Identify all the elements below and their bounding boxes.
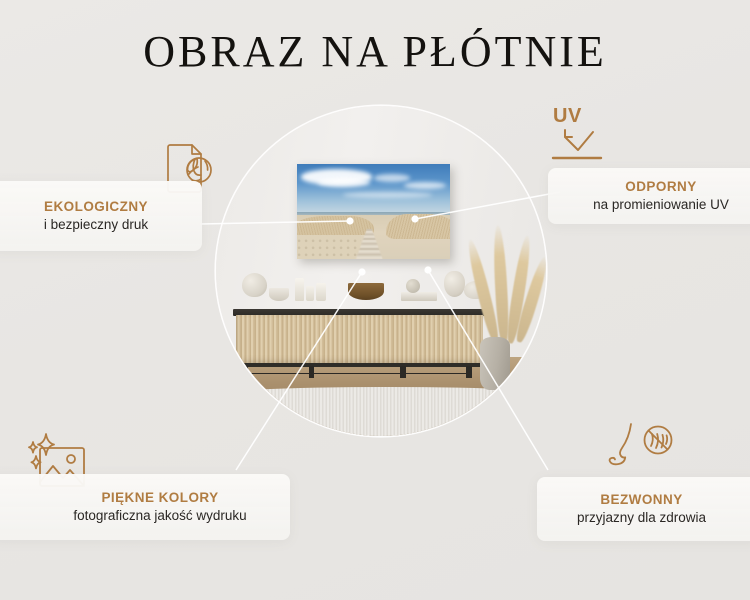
feature-subtitle-uv: na promieniowanie UV: [593, 196, 729, 214]
artwork-dune-right: [386, 214, 450, 239]
artwork-cloud: [318, 178, 370, 187]
scene-circle-mask: [216, 106, 546, 436]
nose-no-smell-icon: [605, 418, 679, 485]
feature-title-odour: BEZWONNY: [600, 492, 682, 509]
artwork-sand: [297, 231, 361, 260]
page-title: OBRAZ NA PŁÓTNIE: [0, 28, 750, 76]
decor-candle: [316, 283, 325, 301]
decor-stone-ball: [406, 279, 420, 293]
decor-candle: [295, 278, 304, 301]
feature-title-colors: PIĘKNE KOLORY: [101, 490, 218, 507]
canvas-artwork: [297, 164, 450, 260]
feature-subtitle-colors: fotograficzna jakość wydruku: [73, 507, 246, 525]
artwork-cloud: [374, 174, 411, 182]
decor-candle: [306, 286, 314, 301]
feature-title-eco: EKOLOGICZNY: [44, 199, 148, 216]
room-rug: [216, 387, 546, 437]
artwork-dune-left: [297, 216, 374, 234]
feature-card-odour[interactable]: BEZWONNY przyjazny dla zdrowia: [537, 477, 750, 541]
sideboard-rail: [245, 373, 471, 375]
feature-title-uv: ODPORNY: [625, 179, 696, 196]
decor-floor-vase: [480, 337, 510, 390]
product-scene: [216, 106, 546, 436]
decor-small-bowl: [269, 288, 289, 301]
feature-card-uv[interactable]: ODPORNY na promieniowanie UV: [548, 168, 750, 224]
sideboard: [233, 309, 487, 378]
feature-card-colors[interactable]: PIĘKNE KOLORY fotograficzna jakość wydru…: [0, 474, 290, 540]
feature-card-eco[interactable]: EKOLOGICZNY i bezpieczny druk: [0, 181, 202, 251]
sideboard-fluted-front: [236, 315, 482, 364]
decor-wooden-bowl: [348, 283, 384, 300]
feature-subtitle-eco: i bezpieczny druk: [44, 216, 148, 234]
sideboard-base: [236, 363, 482, 367]
artwork-cloud: [404, 182, 445, 189]
feature-subtitle-odour: przyjazny dla zdrowia: [577, 509, 706, 527]
decor-round-vase: [242, 273, 267, 298]
poster-canvas: OBRAZ NA PŁÓTNIE: [0, 0, 750, 600]
uv-ray-reflect-icon: [548, 108, 610, 171]
decor-books: [401, 292, 437, 301]
